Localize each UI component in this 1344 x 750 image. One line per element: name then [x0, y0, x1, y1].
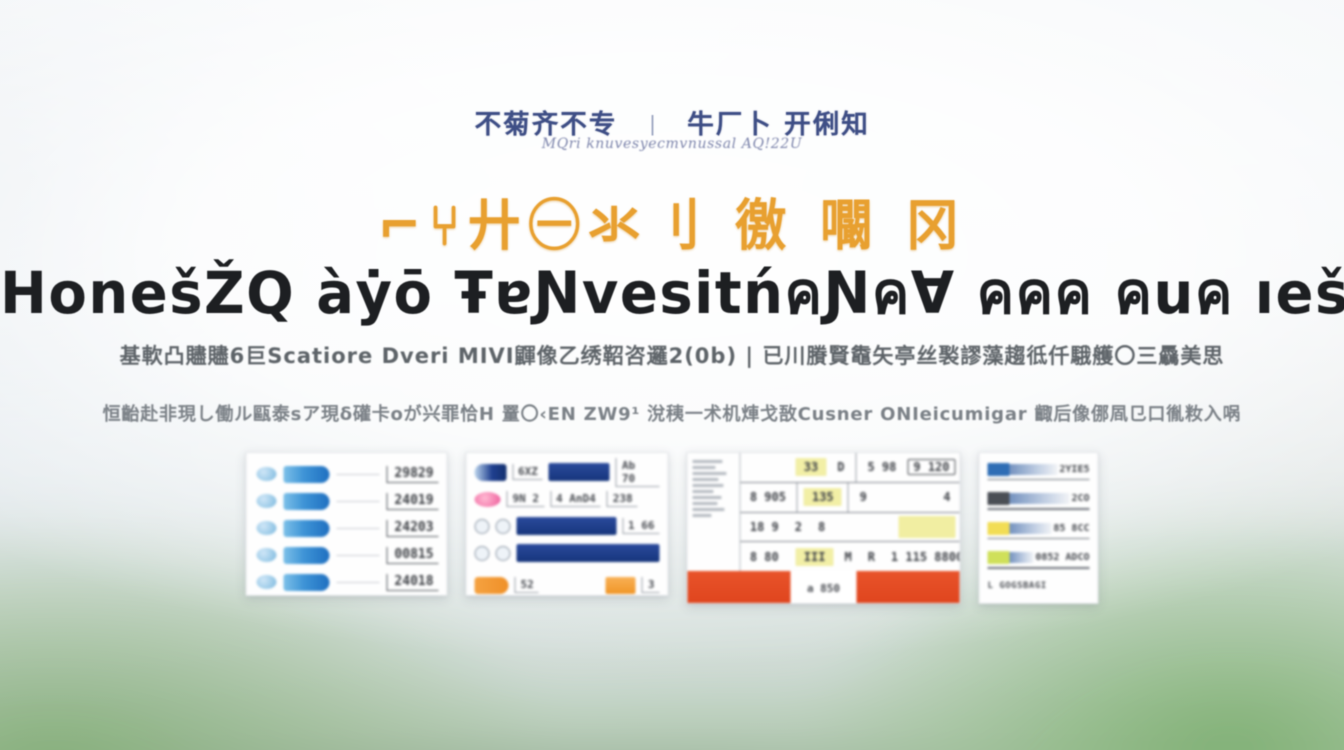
block-indicator — [517, 544, 660, 562]
table-row: 24019 — [257, 489, 439, 513]
form-row: 9N 2 4 AnD4 238 — [475, 488, 660, 510]
slide-stage: 不菊齐不专 | 牛厂卜 开俐知 MQri knuvesyecmvnussal A… — [0, 0, 1344, 750]
circle-icon — [257, 575, 277, 589]
cell-value: 1 66 — [622, 518, 660, 534]
divider — [337, 474, 380, 475]
color-tag — [988, 492, 1010, 505]
bar-fill — [1010, 493, 1070, 504]
table-side-labels — [688, 453, 741, 571]
cell-value: 52 — [515, 577, 539, 593]
cell-value: 4 — [938, 490, 955, 504]
color-tag — [988, 463, 1010, 476]
row-bar: 0852 ADCO — [988, 551, 1090, 564]
table-row: 18 9 2 8 — [741, 513, 960, 543]
divider — [337, 528, 380, 529]
page-title: HonešŽQ àẏō ŦɐƝvesitńคƝคⱯ คคค คuค ıešašt… — [0, 246, 1344, 339]
list-item: 2CO — [988, 492, 1090, 509]
label-line — [693, 478, 719, 481]
row-value: 29829 — [387, 466, 439, 483]
cell-value: 6XZ — [512, 464, 543, 480]
form-row: 52 3 — [475, 574, 660, 596]
circle-icon — [496, 546, 511, 561]
subtitle-line-2: 恒齝赴非現し働ル甌泰sア現δ礶卡oが兴罪恰H 罿〇‹EN ZW9¹ 涗䄺一术机𤉖… — [0, 400, 1344, 426]
circle-icon — [257, 521, 277, 535]
label-line — [693, 490, 714, 493]
orange-chip — [606, 577, 636, 594]
label-line — [693, 508, 725, 511]
divider — [337, 582, 380, 583]
highlight-block — [899, 516, 956, 538]
cell-value: 8 905 — [745, 490, 791, 504]
cell-value: 5 98 — [862, 460, 901, 474]
bar-indicator — [284, 520, 330, 537]
row-value: 2CO — [1071, 493, 1089, 504]
block-indicator — [549, 463, 610, 481]
red-footer-block — [857, 571, 960, 604]
table-row: 8 80 III M R 1 115 8800 — [741, 542, 960, 571]
thumbnail-card-3[interactable]: 33 D 5 98 9 120 8 905 135 9 — [687, 452, 961, 604]
card-footer-text: L GOGSBAGI — [988, 581, 1090, 591]
thumbnail-card-4[interactable]: 2YIE5 2CO 85 8CC — [979, 452, 1099, 604]
slide-content: 不菊齐不专 | 牛厂卜 开俐知 MQri knuvesyecmvnussal A… — [0, 0, 1344, 750]
row-bar: 2CO — [988, 492, 1090, 505]
row-value: 00815 — [387, 547, 439, 564]
table-row: 33 D 5 98 9 120 — [741, 453, 960, 483]
cell-value: 4 AnD4 — [550, 491, 601, 507]
cell-value: 9 120 — [907, 459, 955, 475]
cell-value: 8 80 — [745, 550, 784, 564]
label-line — [693, 496, 722, 499]
label-line — [693, 472, 727, 475]
divider — [337, 501, 380, 502]
circle-icon — [257, 548, 277, 562]
row-value: 2YIE5 — [1059, 464, 1089, 475]
row-value: 0852 ADCO — [1035, 552, 1089, 563]
circle-icon — [496, 519, 511, 534]
table-grid: 33 D 5 98 9 120 8 905 135 9 — [741, 453, 960, 571]
list-item: 2YIE5 — [988, 463, 1090, 480]
row-bar: 85 8CC — [988, 522, 1090, 535]
bar-fill — [1010, 552, 1034, 563]
table-row: 24018 — [257, 570, 439, 594]
bar-indicator — [284, 547, 330, 564]
cell-value: 1 115 8800 — [886, 550, 961, 564]
circle-icon — [475, 546, 490, 561]
cell-value: R — [863, 550, 880, 564]
row-value: 24019 — [387, 493, 439, 510]
row-value: 85 8CC — [1053, 523, 1089, 534]
circle-icon — [257, 467, 277, 481]
cell-value: III — [796, 548, 834, 566]
circle-icon — [257, 494, 277, 508]
label-line — [693, 502, 718, 505]
list-item: 0852 ADCO — [988, 551, 1090, 568]
circle-icon — [475, 519, 490, 534]
label-line — [693, 514, 712, 517]
list-item: 85 8CC — [988, 522, 1090, 539]
table-row: 24203 — [257, 516, 439, 540]
bar-indicator — [284, 466, 330, 483]
form-row: 1 66 — [475, 515, 660, 537]
footer-value: a 850 — [791, 571, 857, 604]
cell-value: 9N 2 — [507, 491, 545, 507]
cell-value: D — [832, 460, 849, 474]
thumbnail-card-1[interactable]: 29829 24019 24203 — [246, 452, 448, 596]
divider — [988, 538, 1090, 539]
pill-indicator — [475, 464, 507, 481]
divider — [988, 479, 1090, 480]
table-footer: a 850 — [688, 571, 960, 604]
form-row: 6XZ Ab 70 — [475, 461, 660, 483]
color-tag — [988, 522, 1010, 535]
thumbnail-card-row: 29829 24019 24203 — [246, 452, 1099, 604]
cell-value: 9 — [855, 490, 872, 504]
row-value: 24018 — [387, 574, 439, 591]
divider — [988, 567, 1090, 568]
cell-value: 2 — [790, 520, 807, 534]
kicker-separator: | — [650, 111, 656, 137]
bar-fill — [1010, 464, 1058, 475]
subtitle-line-1: 基軟凸贐贐6巨Scatiore Dveri MIVI鼲像乙绣鞀咨邏2(0b) |… — [0, 340, 1344, 370]
divider — [855, 453, 856, 482]
label-line — [693, 460, 723, 463]
label-line — [693, 466, 716, 469]
row-bar: 2YIE5 — [988, 463, 1090, 476]
kicker-subtext: MQri knuvesyecmvnussal AQ!22U — [0, 136, 1344, 152]
divider — [337, 555, 380, 556]
cell-value: M — [839, 550, 856, 564]
label-line — [693, 484, 724, 487]
cell-value: 33 — [796, 458, 826, 476]
bar-indicator — [284, 574, 330, 591]
cell-value: 135 — [804, 488, 842, 506]
table-row: 00815 — [257, 543, 439, 567]
divider — [848, 483, 849, 512]
orange-chip — [475, 577, 509, 594]
row-value: 24203 — [387, 520, 439, 537]
divider — [988, 508, 1090, 509]
cell-value: Ab 70 — [616, 458, 660, 487]
table-body: 33 D 5 98 9 120 8 905 135 9 — [688, 453, 960, 571]
table-row: 29829 — [257, 462, 439, 486]
cell-value: 18 9 — [745, 520, 784, 534]
cell-value: 3 — [642, 577, 660, 593]
red-footer-block — [688, 571, 791, 604]
form-row — [475, 542, 660, 564]
bar-fill — [1010, 523, 1052, 534]
cell-value: 8 — [813, 520, 830, 534]
bar-indicator — [284, 493, 330, 510]
divider — [797, 483, 798, 512]
cell-value: 238 — [607, 491, 638, 507]
highlight-blob-icon — [475, 492, 501, 507]
block-indicator — [517, 517, 617, 535]
table-row: 8 905 135 9 4 — [741, 483, 960, 513]
color-tag — [988, 551, 1010, 564]
thumbnail-card-2[interactable]: 6XZ Ab 70 9N 2 4 AnD4 238 1 66 — [466, 452, 669, 596]
